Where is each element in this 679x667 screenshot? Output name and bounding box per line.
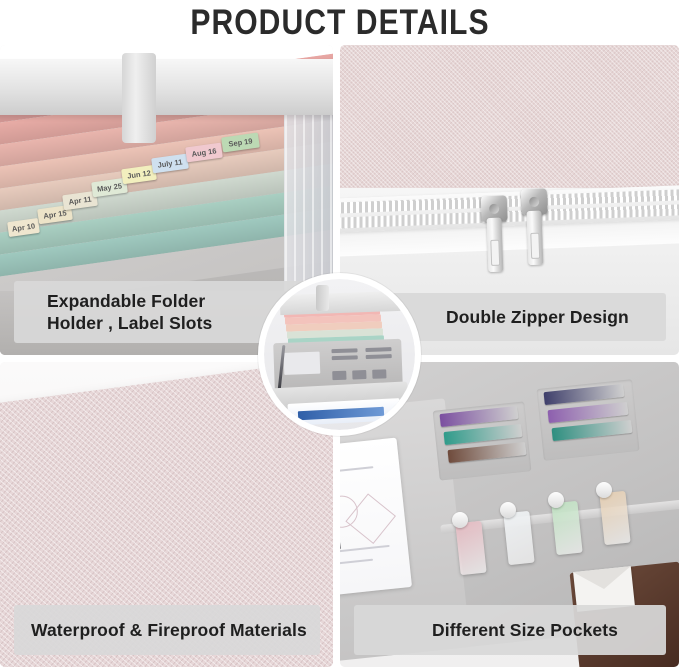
zipper-pull-right [521,189,539,261]
inset-photo [264,279,415,430]
elastic-loop [548,492,564,508]
caption-different-size-pockets: Different Size Pockets [354,605,666,655]
carry-handle [122,53,156,143]
caption-text: Waterproof & Fireproof Materials [31,619,307,641]
elastic-loop [452,512,468,528]
caption-text: Different Size Pockets [432,619,618,641]
zipper-fabric-texture [340,45,679,197]
product-overview-inset[interactable] [258,273,421,436]
organizer-lid [0,59,333,115]
zipper-pull-tab [487,218,504,272]
zipper-pull-left [481,196,499,268]
note-card [340,438,412,597]
pocket-tab [503,511,534,565]
pocket-tab [599,491,630,545]
inset-handle [316,285,329,311]
page-title: PRODUCT DETAILS [190,3,489,43]
caption-line-2: Holder , Label Slots [47,312,212,334]
elastic-loop [596,482,612,498]
pocket-tab [455,521,486,575]
pocket-tab [551,501,582,555]
inset-lid [280,291,401,315]
caption-text: Double Zipper Design [446,306,629,328]
zipper-pull-tab [527,211,544,265]
elastic-loop [500,502,516,518]
page-header: PRODUCT DETAILS [0,0,679,45]
caption-waterproof-materials: Waterproof & Fireproof Materials [14,605,320,655]
caption-line-1: Expandable Folder [47,290,212,312]
